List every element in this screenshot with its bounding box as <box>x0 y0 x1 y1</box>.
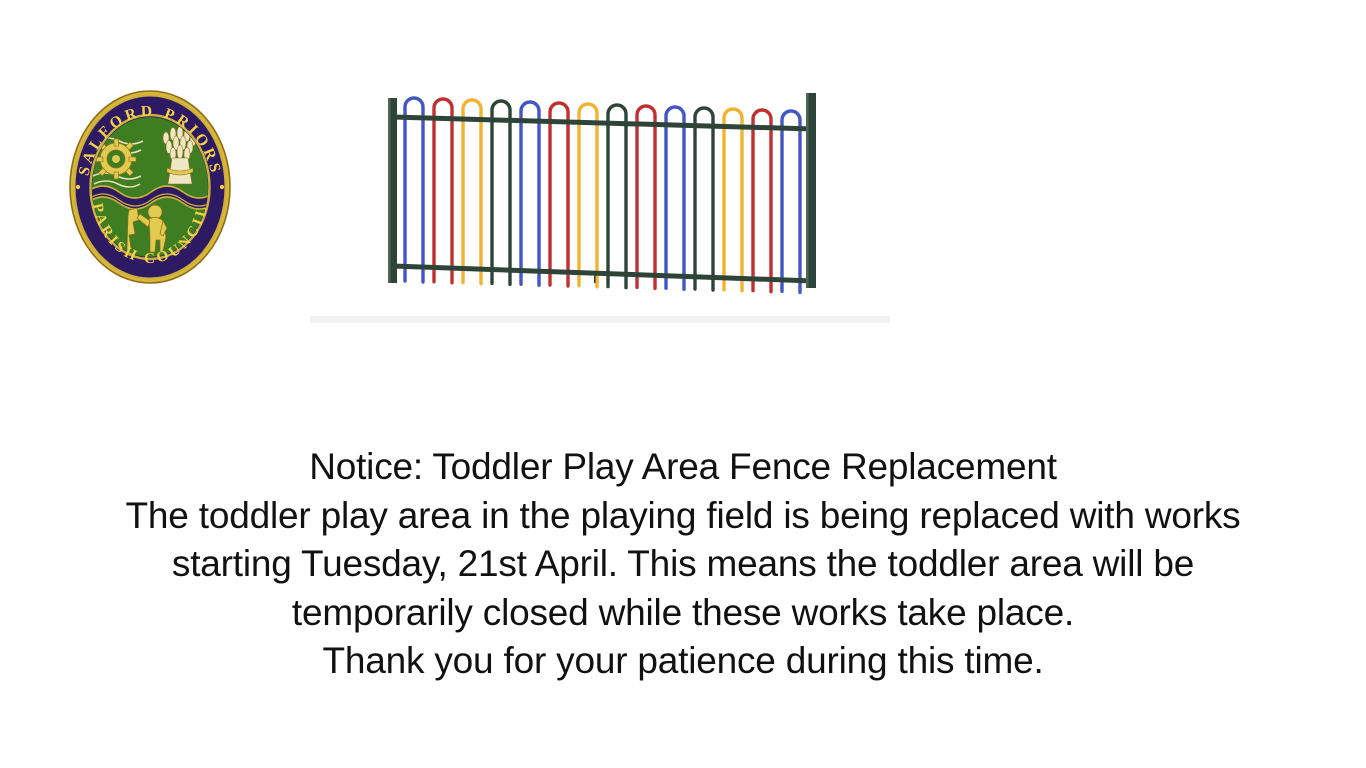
fence-post-left-highlight <box>388 98 390 283</box>
parish-council-logo: SALFORD PRIORS PARISH COUNCIL <box>67 88 233 286</box>
fence-ground-shadow <box>310 316 890 323</box>
fence-top-rail <box>393 117 813 129</box>
notice-body-line-3: temporarily closed while these works tak… <box>0 589 1366 638</box>
fence-bottom-rail <box>393 266 813 281</box>
notice-body-line-2: starting Tuesday, 21st April. This means… <box>0 540 1366 589</box>
crest-dot-right <box>220 185 224 189</box>
notice-text-block: Notice: Toddler Play Area Fence Replacem… <box>0 443 1366 686</box>
fence-centre-stub <box>594 274 596 283</box>
notice-body-line-4: Thank you for your patience during this … <box>0 637 1366 686</box>
notice-title: Notice: Toddler Play Area Fence Replacem… <box>0 443 1366 492</box>
crest-dot-left <box>76 185 80 189</box>
fence-post-right-highlight <box>806 93 809 288</box>
notice-body-line-1: The toddler play area in the playing fie… <box>0 492 1366 541</box>
fence-product-image <box>305 70 895 332</box>
